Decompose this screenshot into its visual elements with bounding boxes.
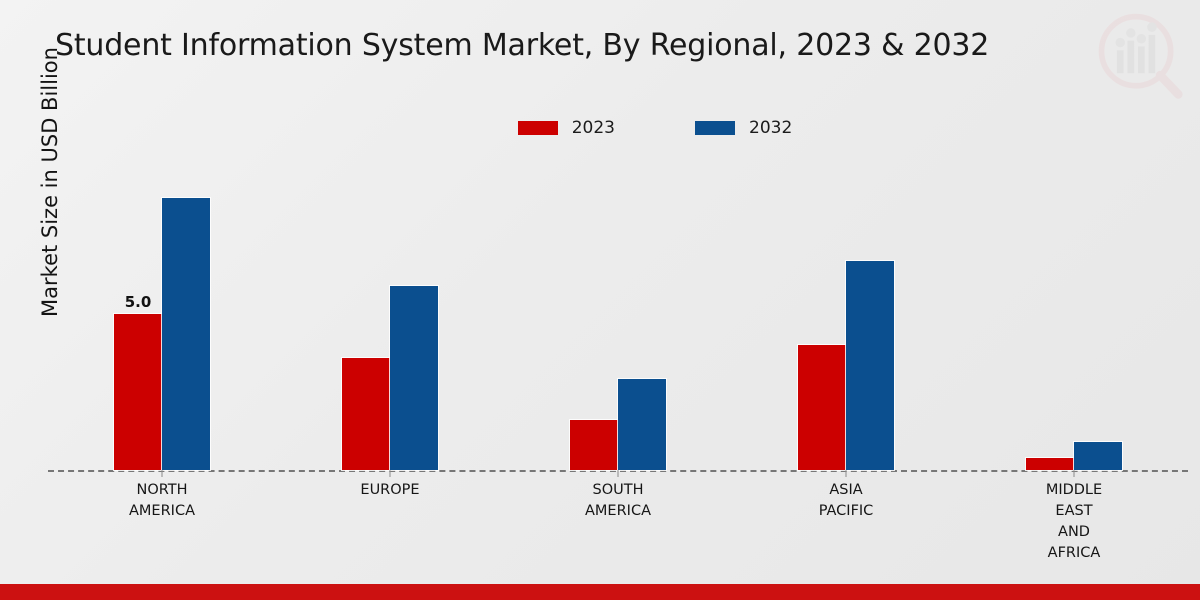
chart-title: Student Information System Market, By Re…	[55, 28, 1095, 64]
bar-group-north-america: 5.0 NORTH AMERICA	[48, 170, 276, 470]
axis-tick	[390, 470, 391, 477]
axis-tick	[162, 470, 163, 477]
category-label-north-america: NORTH AMERICA	[72, 480, 252, 522]
axis-tick	[618, 470, 619, 477]
bar-group-asia-pacific: ASIA PACIFIC	[732, 170, 960, 470]
legend-label-2032: 2032	[749, 118, 792, 138]
category-label-south-america: SOUTH AMERICA	[528, 480, 708, 522]
bar-2023-south-america[interactable]	[570, 420, 618, 470]
watermark-logo-icon	[1090, 8, 1186, 104]
bar-2032-north-america[interactable]	[162, 198, 210, 470]
bar-2032-south-america[interactable]	[618, 379, 666, 470]
bars	[1026, 442, 1122, 470]
legend-item-2032[interactable]: 2032	[695, 118, 792, 138]
legend-swatch-2023	[518, 121, 558, 135]
category-label-asia-pacific: ASIA PACIFIC	[756, 480, 936, 522]
axis-tick	[1074, 470, 1075, 477]
category-label-middle-east-and-africa: MIDDLE EAST AND AFRICA	[984, 480, 1164, 564]
bar-2032-europe[interactable]	[390, 286, 438, 470]
bar-2023-europe[interactable]	[342, 358, 390, 471]
bars	[798, 261, 894, 470]
bar-2032-asia-pacific[interactable]	[846, 261, 894, 470]
axis-tick	[846, 470, 847, 477]
plot-area: 5.0 NORTH AMERICA EUROPE	[48, 170, 1188, 472]
legend-swatch-2032	[695, 121, 735, 135]
legend-label-2023: 2023	[572, 118, 615, 138]
bar-2023-north-america[interactable]: 5.0	[114, 314, 162, 470]
bar-2023-asia-pacific[interactable]	[798, 345, 846, 470]
bars	[342, 286, 438, 470]
bar-value-label: 5.0	[125, 293, 152, 311]
legend-item-2023[interactable]: 2023	[518, 118, 615, 138]
bottom-accent-bar	[0, 584, 1200, 600]
bar-group-south-america: SOUTH AMERICA	[504, 170, 732, 470]
bar-group-middle-east-and-africa: MIDDLE EAST AND AFRICA	[960, 170, 1188, 470]
chart-legend: 2023 2032	[0, 118, 1200, 138]
bar-2023-middle-east-and-africa[interactable]	[1026, 458, 1074, 471]
bar-2032-middle-east-and-africa[interactable]	[1074, 442, 1122, 470]
category-label-europe: EUROPE	[300, 480, 480, 501]
bar-group-europe: EUROPE	[276, 170, 504, 470]
bars: 5.0	[114, 198, 210, 470]
bar-groups: 5.0 NORTH AMERICA EUROPE	[48, 170, 1188, 470]
chart-container: Student Information System Market, By Re…	[0, 0, 1200, 600]
bars	[570, 379, 666, 470]
